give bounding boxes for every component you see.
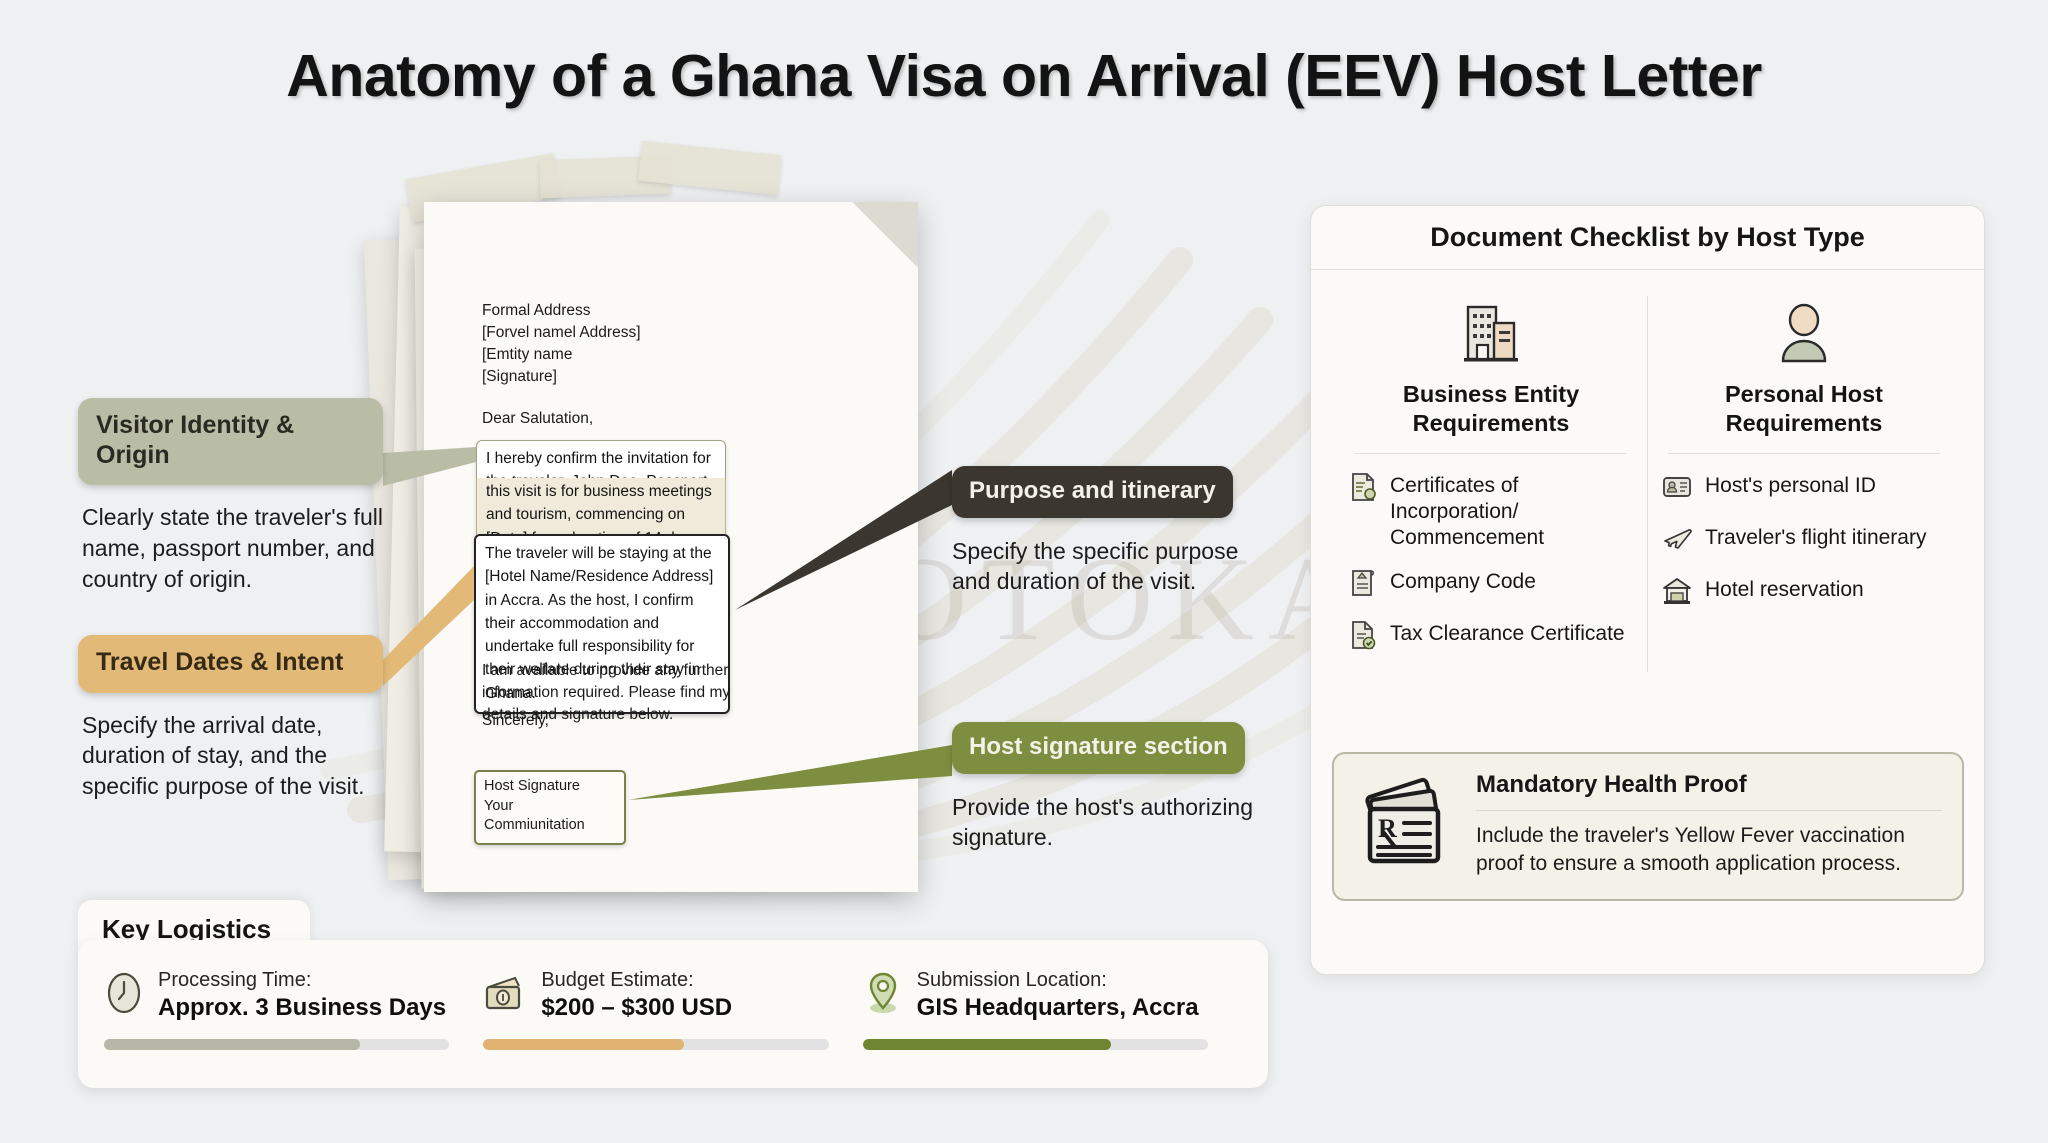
logistics-item-processing-time: Processing Time: Approx. 3 Business Days (104, 968, 483, 1050)
signature-line-2: Your Commiunitation (484, 797, 616, 836)
logistics-item-submission-location: Submission Location: GIS Headquarters, A… (863, 968, 1242, 1050)
logistics-progress-bar (863, 1039, 1208, 1050)
callout-label-signature[interactable]: Host signature section (952, 722, 1245, 774)
document-check-icon (1349, 620, 1377, 655)
letter-signature-block: Host Signature Your Commiunitation (474, 770, 626, 845)
certificate-seal-icon (1349, 472, 1377, 507)
key-logistics-panel: Processing Time: Approx. 3 Business Days… (78, 940, 1268, 1088)
letter-formal-address: Formal Address [Forvel namel Address] [E… (482, 300, 812, 388)
checklist-item[interactable]: Hotel reservation (1662, 576, 1946, 611)
callout-desc-signature: Provide the host's authorizing signature… (952, 792, 1282, 853)
checklist-item-label: Tax Clearance Certificate (1390, 620, 1625, 647)
checklist-item[interactable]: Traveler's flight itinerary (1662, 524, 1946, 559)
letter-closing: Sincerely, (482, 710, 549, 732)
map-pin-icon (863, 970, 903, 1021)
logistics-progress-bar (104, 1039, 449, 1050)
logistics-value: $200 – $300 USD (541, 994, 732, 1023)
logistics-progress-bar (483, 1039, 828, 1050)
checklist-item-label: Company Code (1390, 568, 1536, 595)
logistics-value: GIS Headquarters, Accra (917, 994, 1199, 1023)
checklist-item[interactable]: Tax Clearance Certificate (1349, 620, 1633, 655)
person-avatar-icon (1662, 296, 1946, 368)
checklist-item-label: Certificates of Incorporation/ Commencem… (1390, 472, 1633, 551)
annotation-label-travel-dates[interactable]: Travel Dates & Intent (78, 635, 383, 693)
prescription-card-icon: R (1354, 771, 1458, 880)
money-icon (483, 971, 527, 1020)
checklist-column-business: Business Entity Requirements Certificate… (1335, 296, 1648, 672)
logistics-label: Submission Location: (917, 968, 1199, 992)
office-building-icon (1349, 296, 1633, 368)
clock-icon (104, 971, 144, 1020)
checklist-item-label: Host's personal ID (1705, 472, 1876, 499)
logistics-value: Approx. 3 Business Days (158, 994, 446, 1023)
annotation-label-visitor-identity[interactable]: Visitor Identity & Origin (78, 398, 383, 485)
callout-label-purpose[interactable]: Purpose and itinerary (952, 466, 1233, 518)
page-title: Anatomy of a Ghana Visa on Arrival (EEV)… (0, 42, 2048, 110)
annotation-desc-visitor-identity: Clearly state the traveler's full name, … (78, 502, 383, 594)
annotation-travel-dates: Travel Dates & Intent Specify the arriva… (78, 635, 383, 802)
id-card-icon (1662, 472, 1692, 507)
checklist-item-label: Hotel reservation (1705, 576, 1864, 603)
airplane-icon (1662, 524, 1692, 559)
callout-host-signature: Host signature section Provide the host'… (952, 722, 1282, 853)
hotel-building-icon (1662, 576, 1692, 611)
logistics-label: Processing Time: (158, 968, 446, 992)
health-proof-body: Include the traveler's Yellow Fever vacc… (1476, 822, 1942, 877)
checklist-item[interactable]: Certificates of Incorporation/ Commencem… (1349, 472, 1633, 551)
signature-line-1: Host Signature (484, 777, 616, 797)
column-divider (1355, 453, 1627, 454)
letter-salutation: Dear Salutation, (482, 408, 593, 430)
checklist-column-title-personal: Personal Host Requirements (1662, 380, 1946, 437)
health-proof-divider (1476, 810, 1942, 811)
mandatory-health-proof-card: R Mandatory Health Proof Include the tra… (1332, 752, 1964, 901)
checklist-item[interactable]: Host's personal ID (1662, 472, 1946, 507)
health-proof-title: Mandatory Health Proof (1476, 771, 1942, 799)
annotation-desc-travel-dates: Specify the arrival date, duration of st… (78, 710, 383, 802)
checklist-item[interactable]: Company Code (1349, 568, 1633, 603)
logistics-label: Budget Estimate: (541, 968, 732, 992)
callout-desc-purpose: Specify the specific purpose and duratio… (952, 536, 1282, 597)
scroll-document-icon (1349, 568, 1377, 603)
checklist-column-personal: Personal Host Requirements Host's person… (1648, 296, 1960, 672)
checklist-title: Document Checklist by Host Type (1311, 206, 1984, 270)
logistics-item-budget-estimate: Budget Estimate: $200 – $300 USD (483, 968, 862, 1050)
checklist-column-title-business: Business Entity Requirements (1349, 380, 1633, 437)
callout-purpose-itinerary: Purpose and itinerary Specify the specif… (952, 466, 1282, 597)
annotation-visitor-identity: Visitor Identity & Origin Clearly state … (78, 398, 383, 594)
column-divider (1668, 453, 1940, 454)
checklist-item-label: Traveler's flight itinerary (1705, 524, 1926, 551)
